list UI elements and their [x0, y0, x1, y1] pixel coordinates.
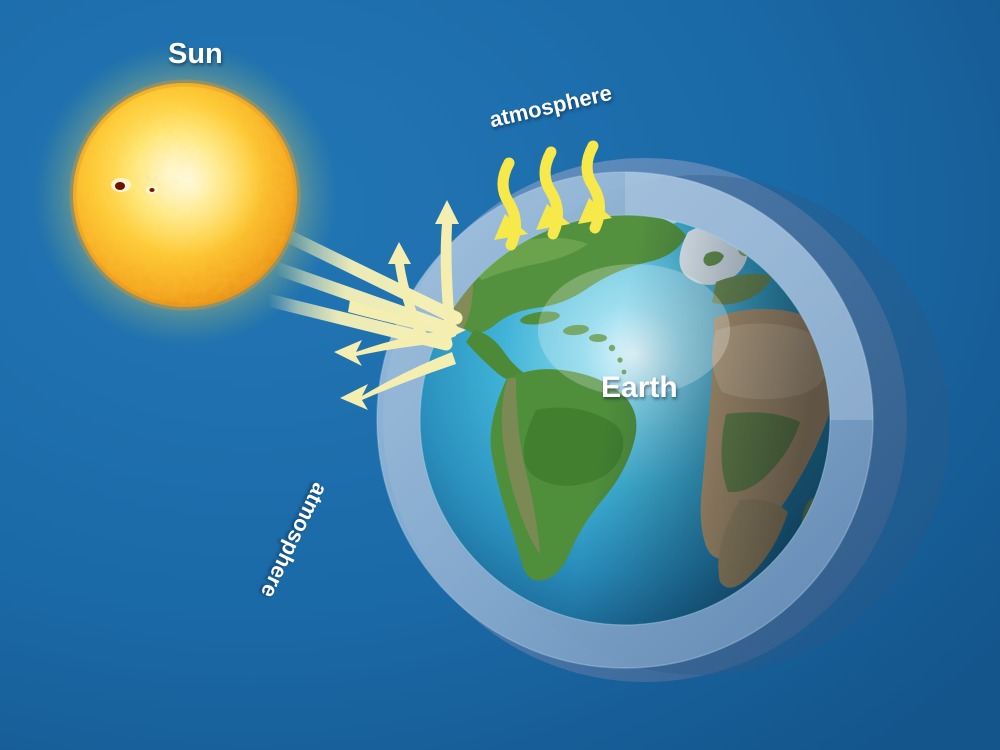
sun	[33, 43, 337, 347]
sunspot-small-umbra	[149, 188, 154, 192]
earth-label: Earth	[601, 371, 678, 405]
sun-label: Sun	[168, 38, 223, 71]
sunspot-large-umbra	[115, 182, 125, 190]
diagram-canvas: Sun Earth atmosphere atmosphere	[0, 0, 1000, 750]
